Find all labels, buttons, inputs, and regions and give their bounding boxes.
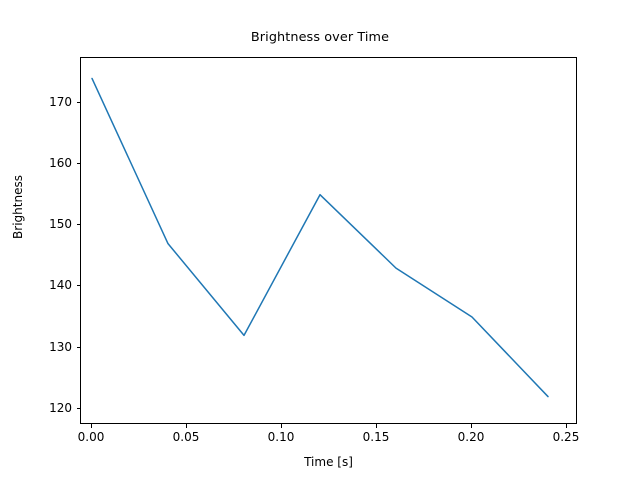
x-tick-label: 0.15 xyxy=(341,430,411,444)
plot-area xyxy=(80,57,577,424)
x-tick-label: 0.10 xyxy=(246,430,316,444)
x-tick-mark xyxy=(471,424,472,428)
line-plot-svg xyxy=(81,58,578,425)
x-axis-label: Time [s] xyxy=(80,455,577,469)
x-tick-label: 0.00 xyxy=(56,430,126,444)
x-tick-mark xyxy=(281,424,282,428)
y-tick-mark xyxy=(77,102,81,103)
x-tick-mark xyxy=(91,424,92,428)
x-tick-label: 0.20 xyxy=(436,430,506,444)
figure-canvas: Brightness over Time 120130140150160170 … xyxy=(0,0,640,480)
x-tick-label: 0.05 xyxy=(151,430,221,444)
y-tick-label: 120 xyxy=(12,401,72,415)
brightness-line-series xyxy=(92,78,548,396)
y-tick-mark xyxy=(77,408,81,409)
y-tick-label: 130 xyxy=(12,340,72,354)
x-tick-mark xyxy=(566,424,567,428)
x-tick-mark xyxy=(376,424,377,428)
x-tick-label: 0.25 xyxy=(531,430,601,444)
y-axis-label: Brightness xyxy=(11,107,25,307)
y-tick-mark xyxy=(77,285,81,286)
y-tick-mark xyxy=(77,163,81,164)
chart-title: Brightness over Time xyxy=(0,30,640,45)
x-tick-mark xyxy=(186,424,187,428)
y-tick-mark xyxy=(77,347,81,348)
y-tick-mark xyxy=(77,224,81,225)
